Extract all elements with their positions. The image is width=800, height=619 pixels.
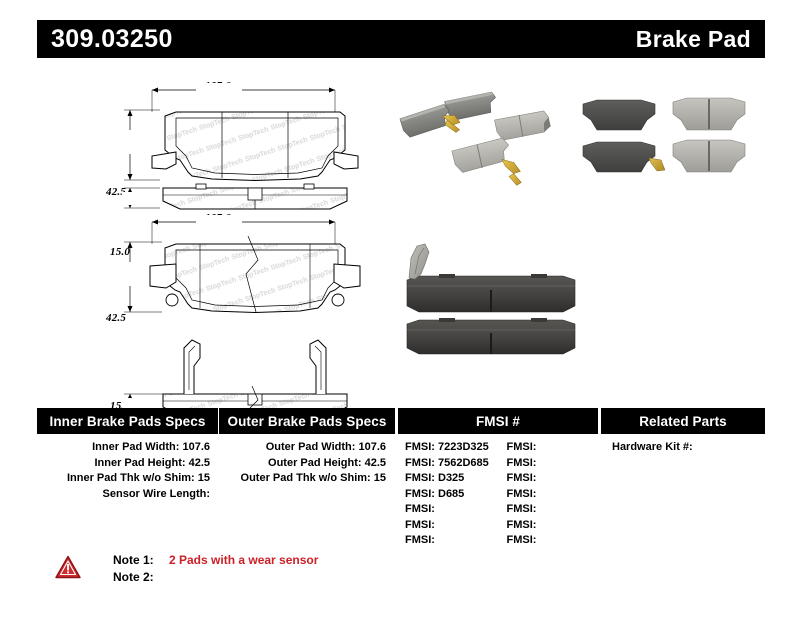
spec-row: FMSI: [395, 518, 497, 534]
spec-row: FMSI: 7562D685 [395, 456, 497, 472]
column-header-related-parts: Related Parts [601, 408, 765, 434]
specifications-table: Inner Brake Pads Specs Outer Brake Pads … [37, 408, 765, 549]
product-photo-pad-set-flat [575, 90, 755, 190]
product-photo-pad-set-angled [398, 72, 593, 197]
note-row: Note 1:2 Pads with a wear sensor [113, 552, 318, 569]
inner-specs-column: Inner Pad Width: 107.6Inner Pad Height: … [37, 440, 219, 549]
spec-row: FMSI: [497, 533, 599, 549]
spec-row: Inner Pad Height: 42.5 [37, 456, 219, 472]
spec-row: Outer Pad Width: 107.6 [219, 440, 395, 456]
fmsi-column: FMSI: 7223D325FMSI: 7562D685FMSI: D325FM… [395, 440, 598, 549]
spec-row: FMSI: D685 [395, 487, 497, 503]
table-body: Inner Pad Width: 107.6Inner Pad Height: … [37, 434, 765, 549]
note-label: Note 1: [113, 552, 165, 569]
technical-drawings: 107.6 42.5 15.0 StopTech [0, 60, 390, 390]
header-bar: 309.03250 Brake Pad [37, 20, 765, 58]
spec-row: Outer Pad Thk w/o Shim: 15 [219, 471, 395, 487]
spec-row: FMSI: [497, 456, 599, 472]
note-value: 2 Pads with a wear sensor [169, 552, 318, 569]
column-header-outer-specs: Outer Brake Pads Specs [219, 408, 395, 434]
fmsi-subcolumn-right: FMSI:FMSI:FMSI:FMSI:FMSI:FMSI:FMSI: [497, 440, 599, 549]
product-photos [390, 62, 800, 392]
fmsi-subcolumn-left: FMSI: 7223D325FMSI: 7562D685FMSI: D325FM… [395, 440, 497, 549]
related-parts-column: Hardware Kit #: [598, 440, 765, 549]
spec-row: Sensor Wire Length: [37, 487, 219, 503]
warning-triangle-icon [55, 555, 81, 579]
spec-row: Outer Pad Height: 42.5 [219, 456, 395, 472]
notes-text-block: Note 1:2 Pads with a wear sensorNote 2: [113, 552, 318, 586]
pad-clip-linedrawing: StopTech [0, 208, 390, 433]
spec-row: FMSI: [497, 518, 599, 534]
spec-row: FMSI: D325 [395, 471, 497, 487]
pad-face-linedrawing: StopTech [0, 68, 390, 213]
spec-row: FMSI: [395, 533, 497, 549]
spec-row: FMSI: [497, 471, 599, 487]
column-header-inner-specs: Inner Brake Pads Specs [37, 408, 219, 434]
spec-row: Inner Pad Thk w/o Shim: 15 [37, 471, 219, 487]
spec-row: Hardware Kit #: [598, 440, 765, 456]
note-row: Note 2: [113, 569, 318, 586]
spec-row: FMSI: 7223D325 [395, 440, 497, 456]
spec-row: FMSI: [497, 502, 599, 518]
product-photo-pad-edge-view [395, 232, 590, 362]
part-number: 309.03250 [51, 27, 173, 52]
spec-row: FMSI: [395, 502, 497, 518]
note-label: Note 2: [113, 569, 165, 586]
spec-row: FMSI: [497, 487, 599, 503]
spec-row: FMSI: [497, 440, 599, 456]
notes-section: Note 1:2 Pads with a wear sensorNote 2: [55, 552, 318, 586]
page-title: Brake Pad [636, 28, 751, 51]
outer-specs-column: Outer Pad Width: 107.6Outer Pad Height: … [219, 440, 395, 549]
spec-row: Inner Pad Width: 107.6 [37, 440, 219, 456]
column-header-fmsi: FMSI # [398, 408, 598, 434]
table-header-row: Inner Brake Pads Specs Outer Brake Pads … [37, 408, 765, 434]
